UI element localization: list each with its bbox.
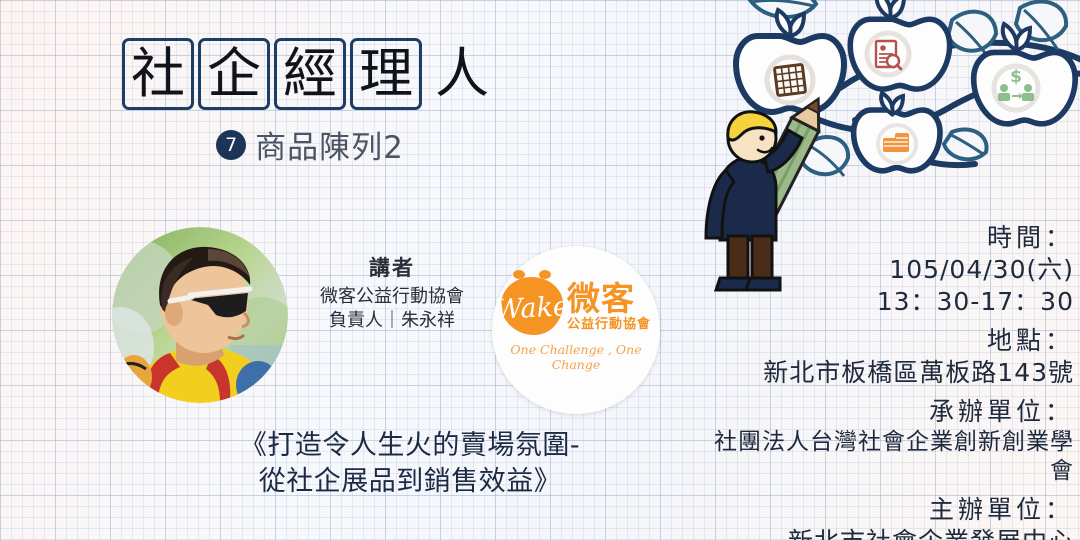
event-details: 時間： 105/04/30(六) 13：30-17：30 地點： 新北市板橋區萬… [694,222,1074,540]
topic-line-1: 《打造令人生火的賣場氛圍- [150,428,670,464]
speaker-role-name: 負責人｜朱永祥 [296,309,488,333]
wake-blob-icon: Wake [501,277,563,335]
logo-brand-cn-main: 微客 [567,279,635,318]
episode-subtitle: 商品陳列2 [255,122,404,167]
time-range: 13：30-17：30 [694,286,1074,318]
topic-line-2: 從社企展品到銷售效益》 [150,464,670,500]
speaker-info: 講者 微客公益行動協會 負責人｜朱永祥 [296,252,488,333]
wake-logo: Wake 微客 公益行動協會 One Challenge , One Chang… [492,246,660,414]
time-date: 105/04/30(六) [694,254,1074,286]
place-label: 地點： [694,325,1074,357]
apple-coins [854,93,940,171]
apple-calendar [736,10,844,112]
executor-label: 承辦單位： [694,396,1074,428]
title-char-5: 人 [426,38,498,110]
episode-subtitle-row: 7 商品陳列2 [0,122,620,167]
topic-title: 《打造令人生火的賣場氛圍- 從社企展品到銷售效益》 [150,428,670,500]
organizer-value: 新北市社會企業發展中心 [694,526,1074,540]
logo-brand-cn: 微客 公益行動協會 [567,282,651,331]
speaker-organization: 微客公益行動協會 [296,285,488,309]
speaker-label: 講者 [296,252,488,282]
title-char-1: 社 [122,38,194,110]
poster-title-block: 社 企 經 理 人 7 商品陳列2 [0,38,620,167]
speaker-photo [112,227,288,403]
executor-value: 社團法人台灣社會企業創新創業學會 [694,428,1074,487]
title-character-boxes: 社 企 經 理 人 [0,38,620,110]
episode-number-badge: 7 [216,130,246,160]
title-char-4: 理 [350,38,422,110]
title-char-2: 企 [198,38,270,110]
apple-document-search [850,0,949,89]
logo-brand-cn-sub: 公益行動協會 [567,318,651,331]
logo-tagline: One Challenge , One Change [500,342,652,372]
time-label: 時間： [694,222,1074,254]
svg-text:$: $ [1010,67,1022,87]
poster-root: $ [0,0,1080,540]
place-value: 新北市板橋區萬板路143號 [694,357,1074,389]
organizer-label: 主辦單位： [694,494,1074,526]
calendar-grid-icon [774,64,805,95]
title-char-3: 經 [274,38,346,110]
logo-brand-en: Wake [494,291,569,326]
